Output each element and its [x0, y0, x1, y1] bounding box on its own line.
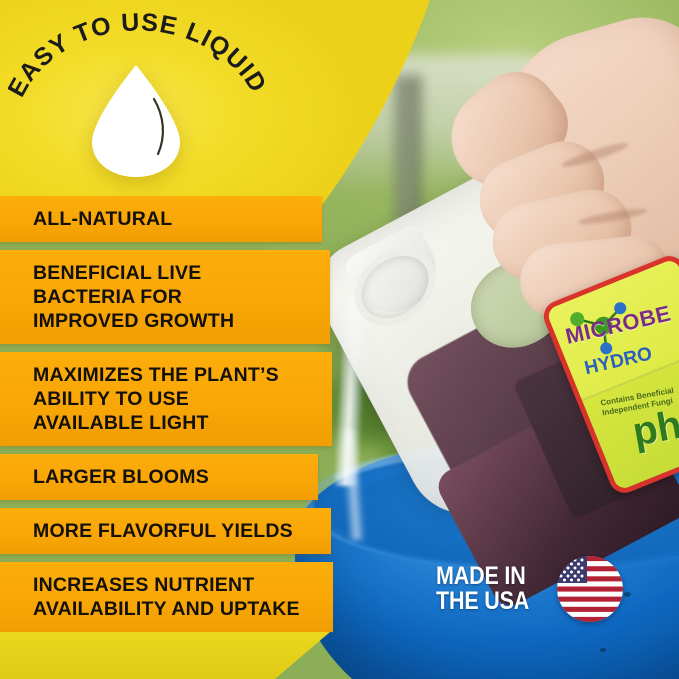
feature-label: INCREASES NUTRIENT AVAILABILITY AND UPTA… — [0, 562, 314, 632]
feature-list: ALL-NATURAL BENEFICIAL LIVE BACTERIA FOR… — [0, 196, 340, 640]
feature-bar: ALL-NATURAL — [0, 196, 322, 242]
feature-bar: INCREASES NUTRIENT AVAILABILITY AND UPTA… — [0, 562, 333, 632]
bucket-speck — [600, 648, 606, 652]
water-droplet-icon — [88, 62, 184, 180]
feature-bar: MAXIMIZES THE PLANT’S ABILITY TO USE AVA… — [0, 352, 332, 446]
made-in-usa-badge: MADE IN THE USA — [436, 556, 623, 622]
fence-post-blur — [395, 75, 421, 225]
feature-label: MAXIMIZES THE PLANT’S ABILITY TO USE AVA… — [0, 352, 293, 446]
bucket-speck — [624, 592, 631, 597]
feature-label: ALL-NATURAL — [0, 196, 186, 242]
feature-bar: BENEFICIAL LIVE BACTERIA FOR IMPROVED GR… — [0, 250, 330, 344]
feature-label: BENEFICIAL LIVE BACTERIA FOR IMPROVED GR… — [0, 250, 248, 344]
usa-flag-icon — [557, 556, 623, 622]
feature-bar: LARGER BLOOMS — [0, 454, 318, 500]
product-infographic: MICROBE HYDRO Contains Beneficial Indepe… — [0, 0, 679, 679]
feature-label: LARGER BLOOMS — [0, 454, 223, 500]
feature-bar: MORE FLAVORFUL YIELDS — [0, 508, 331, 554]
feature-label: MORE FLAVORFUL YIELDS — [0, 508, 307, 554]
made-in-usa-text: MADE IN THE USA — [436, 564, 529, 614]
